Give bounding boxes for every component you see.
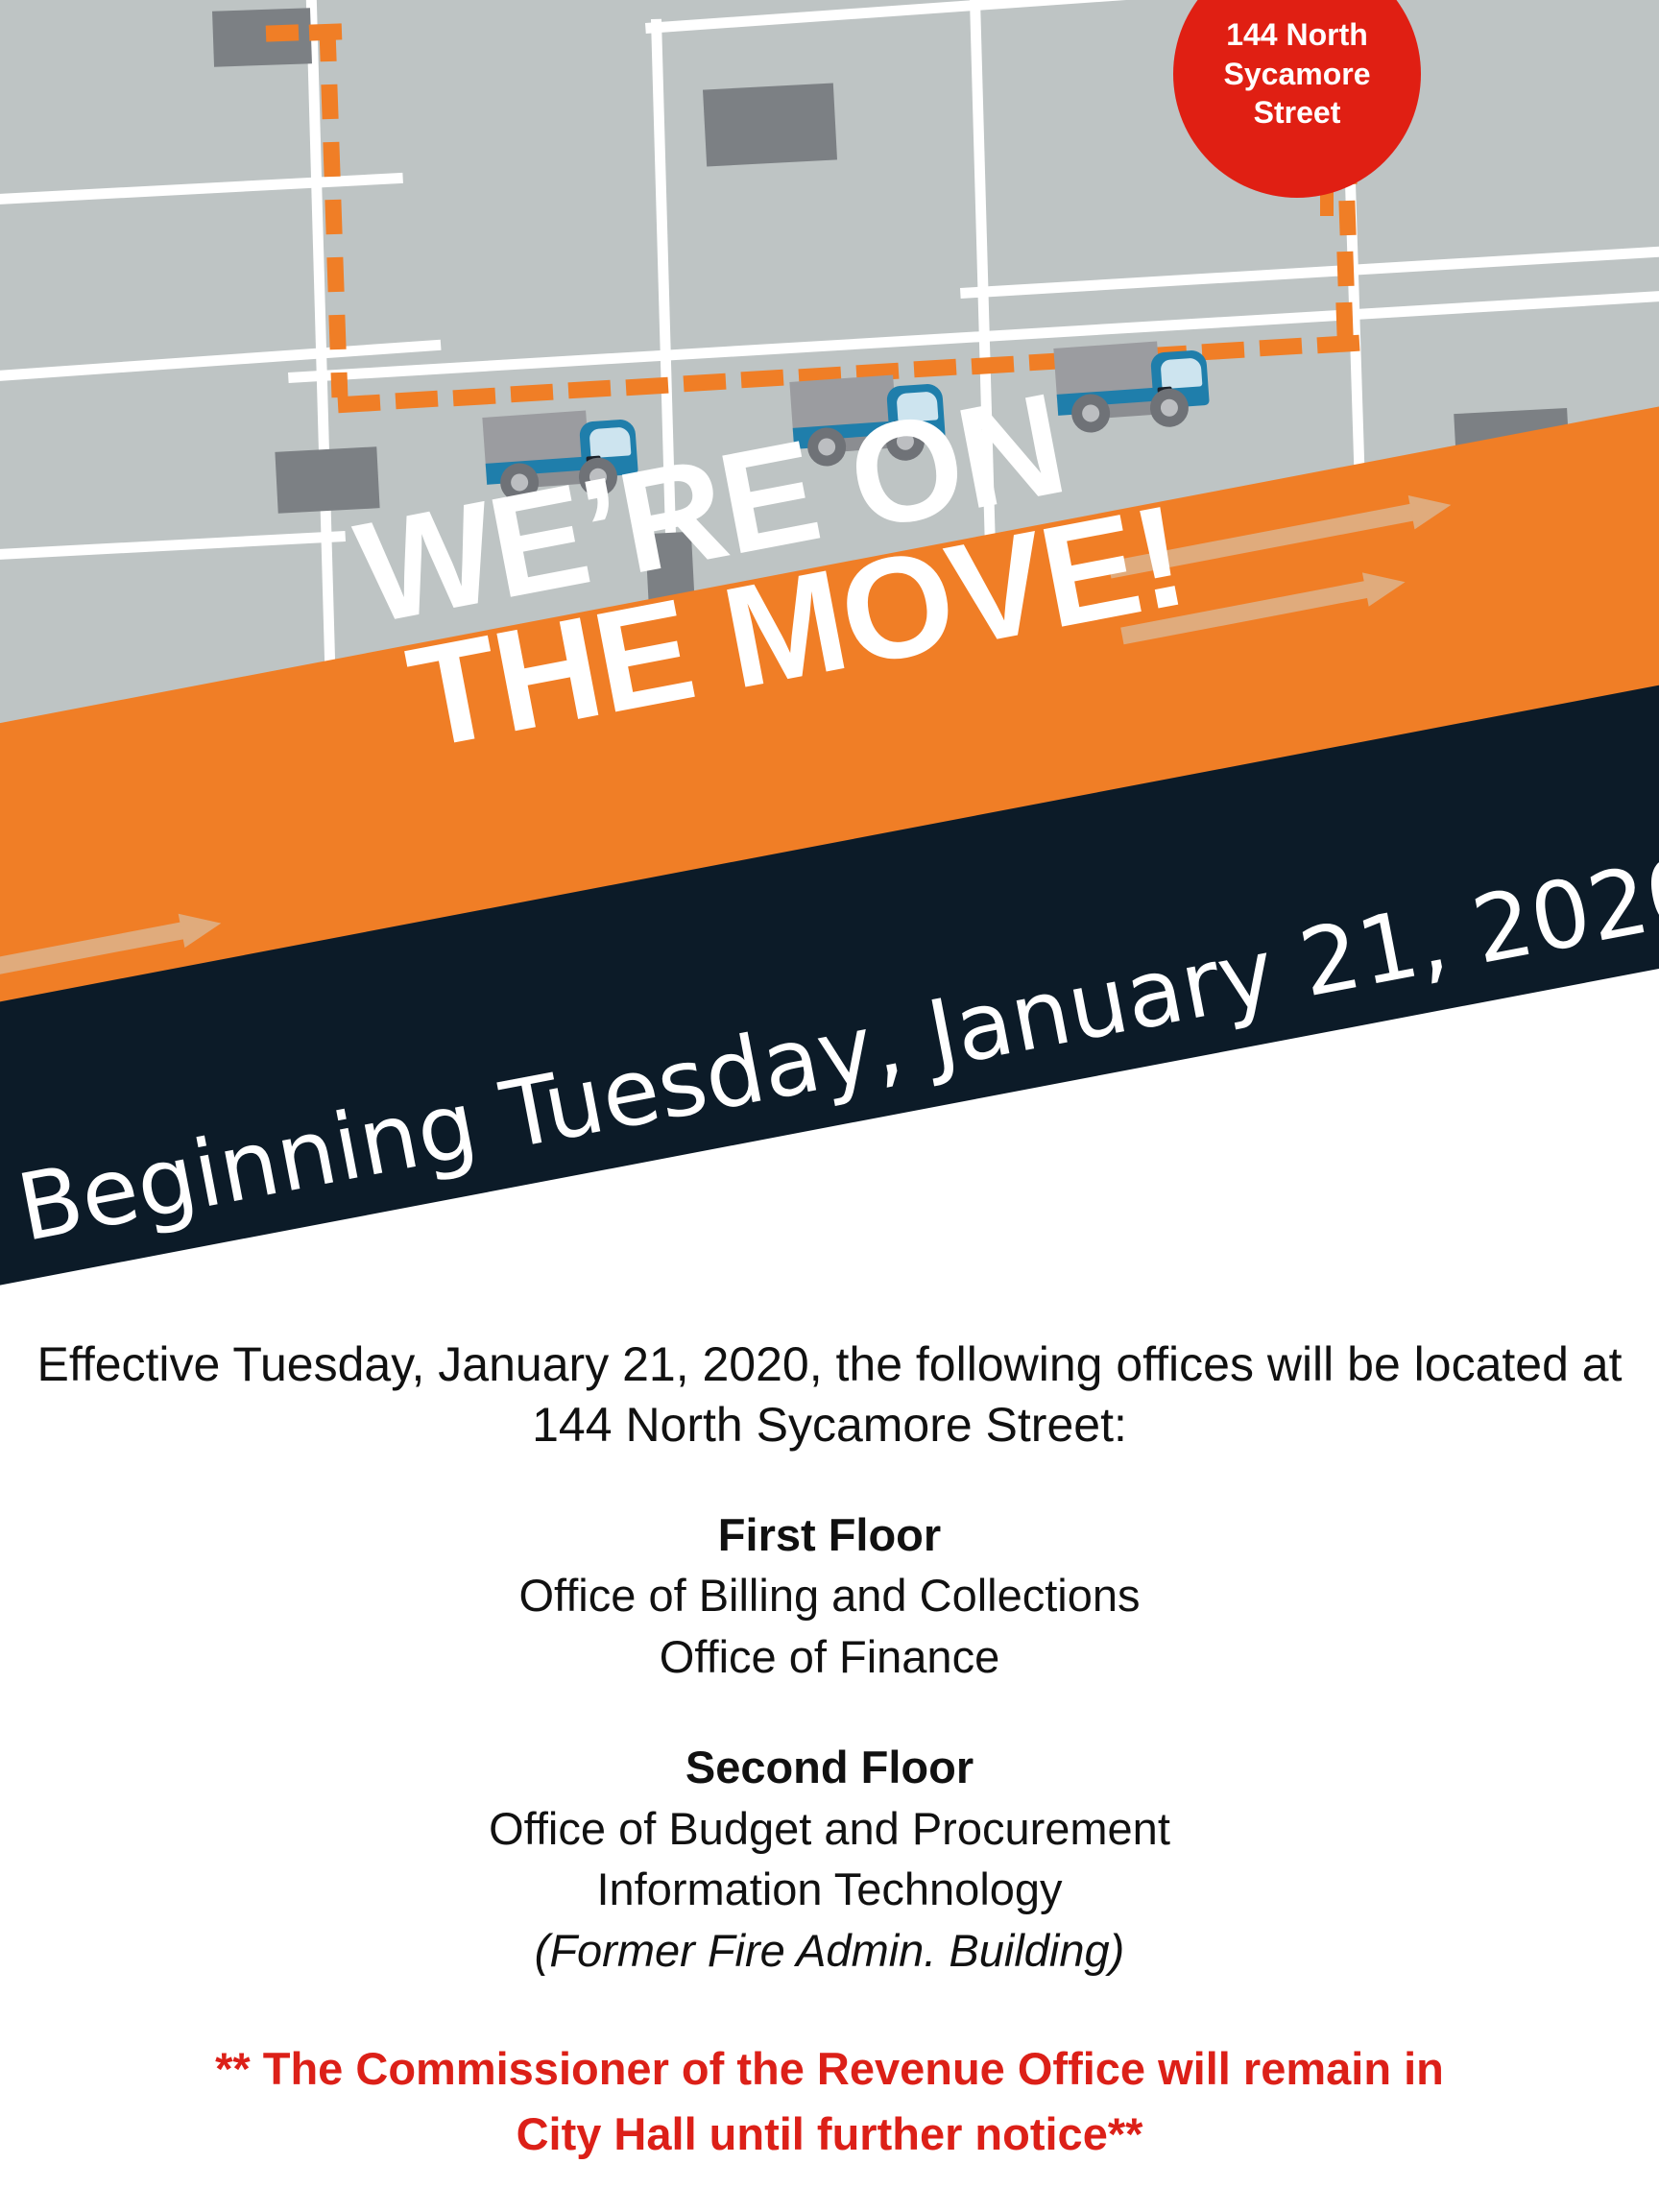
street-line — [0, 340, 442, 385]
office-name: Office of Billing and Collections — [0, 1565, 1659, 1625]
office-name: Office of Finance — [0, 1626, 1659, 1687]
route-dash — [266, 24, 300, 41]
office-note: (Former Fire Admin. Building) — [0, 1920, 1659, 1981]
route-dash — [1336, 252, 1354, 287]
office-name: Information Technology — [0, 1859, 1659, 1919]
route-dash — [1317, 335, 1360, 354]
status-notice: ** The Commissioner of the Revenue Offic… — [0, 2036, 1659, 2167]
route-dash — [972, 356, 1015, 375]
moving-truck — [481, 393, 651, 510]
notice-line-2: City Hall until further notice** — [86, 2102, 1573, 2167]
building-block — [275, 446, 379, 513]
body-copy: Effective Tuesday, January 21, 2020, the… — [0, 1334, 1659, 2167]
street-line — [0, 173, 403, 207]
route-dash — [321, 84, 338, 120]
floor-block: First Floor Office of Billing and Collec… — [0, 1504, 1659, 1687]
moving-truck — [1052, 324, 1222, 441]
street-line — [960, 245, 1659, 299]
address-badge-label: 144 North Sycamore Street — [1224, 15, 1371, 133]
floor-block: Second Floor Office of Budget and Procur… — [0, 1737, 1659, 1981]
route-dash — [328, 315, 346, 350]
route-dash — [1260, 338, 1303, 357]
route-dash — [1338, 201, 1356, 236]
street-line — [0, 531, 346, 563]
truck-windshield — [1160, 357, 1202, 389]
route-dash — [396, 391, 439, 410]
route-dash — [684, 373, 727, 393]
route-dash — [326, 257, 344, 293]
truck-windshield — [896, 391, 938, 422]
intro-paragraph: Effective Tuesday, January 21, 2020, the… — [0, 1334, 1659, 1455]
route-dash — [1335, 302, 1353, 338]
floor-title: Second Floor — [0, 1737, 1659, 1797]
moving-truck — [788, 357, 958, 474]
route-dash — [741, 370, 784, 389]
building-block — [703, 83, 837, 166]
truck-windshield — [589, 426, 631, 458]
floor-title: First Floor — [0, 1504, 1659, 1565]
route-dash — [325, 200, 342, 235]
route-dash — [309, 23, 343, 40]
route-dash — [338, 395, 381, 414]
route-dash — [331, 373, 349, 398]
notice-line-1: ** The Commissioner of the Revenue Offic… — [86, 2036, 1573, 2102]
office-name: Office of Budget and Procurement — [0, 1798, 1659, 1859]
route-dash — [323, 142, 340, 178]
